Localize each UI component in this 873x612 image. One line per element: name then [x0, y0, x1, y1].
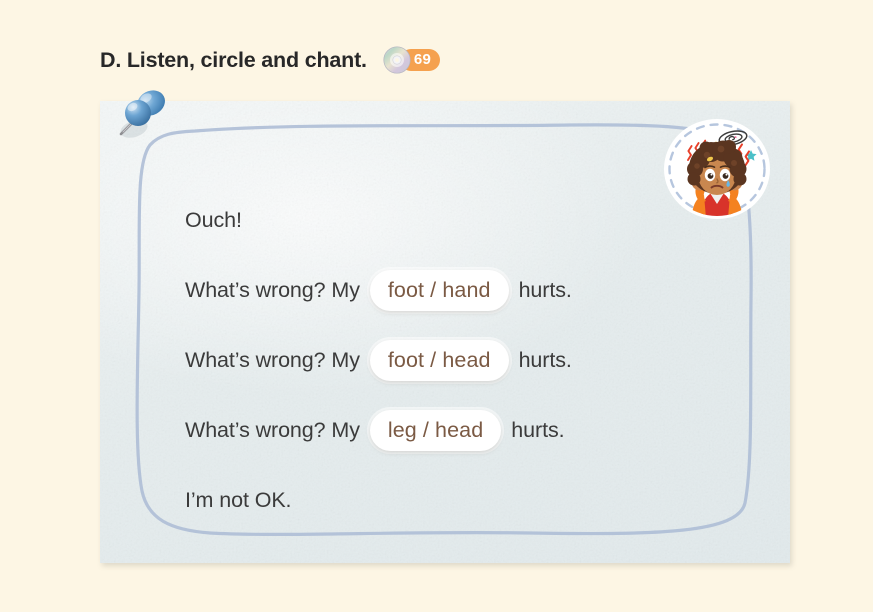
chant-line-tail: hurts. — [519, 278, 572, 303]
audio-track-chip[interactable]: 69 — [383, 46, 440, 74]
chant-line-lead: What’s wrong? My — [185, 418, 360, 443]
pushpin-icon — [107, 82, 177, 152]
chant-line: I’m not OK. — [185, 465, 705, 535]
chant-line-tail: hurts. — [519, 348, 572, 373]
chant-line-lead: What’s wrong? My — [185, 278, 360, 303]
chant-line-tail: hurts. — [511, 418, 564, 443]
chant-line: What’s wrong? My foot / hand hurts. — [185, 255, 705, 325]
choice-box[interactable]: foot / hand — [370, 270, 509, 311]
cd-icon — [383, 46, 411, 74]
chant-line-text: Ouch! — [185, 208, 242, 233]
choice-box[interactable]: leg / head — [370, 410, 501, 451]
chant-line: What’s wrong? My foot / head hurts. — [185, 325, 705, 395]
choice-box[interactable]: foot / head — [370, 340, 509, 381]
chant-text-block: Ouch! What’s wrong? My foot / hand hurts… — [185, 185, 705, 535]
dizzy-child-illustration — [661, 119, 773, 219]
chant-line-text: I’m not OK. — [185, 488, 291, 513]
chant-line: Ouch! — [185, 185, 705, 255]
chant-line-lead: What’s wrong? My — [185, 348, 360, 373]
chant-line: What’s wrong? My leg / head hurts. — [185, 395, 705, 465]
page-title: D. Listen, circle and chant. — [100, 48, 367, 73]
exercise-heading: D. Listen, circle and chant. — [100, 42, 440, 78]
